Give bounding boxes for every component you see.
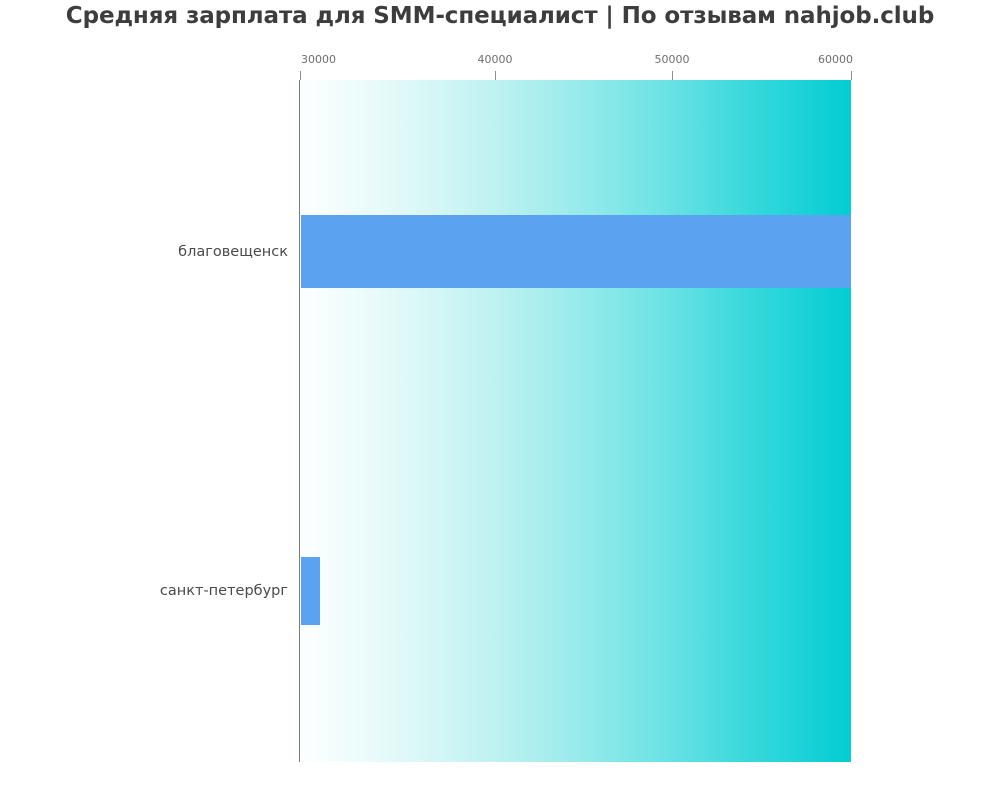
plot-gradient-background (300, 80, 851, 762)
bar (301, 215, 851, 288)
plot-area: 30000400005000060000 (300, 80, 851, 762)
x-axis-tick-label: 40000 (478, 53, 513, 66)
x-axis-tick-mark (300, 71, 301, 80)
x-axis-tick-mark (672, 71, 673, 80)
x-axis-tick-mark (495, 71, 496, 80)
bar (301, 557, 320, 625)
y-axis-line (299, 80, 300, 762)
chart-title: Средняя зарплата для SMM-специалист | По… (0, 0, 1000, 32)
x-axis-tick-mark (851, 71, 852, 80)
x-axis-tick-label: 30000 (301, 53, 336, 66)
y-axis-category-label: благовещенск (178, 244, 288, 260)
y-axis-category-label: санкт-петербург (160, 583, 288, 599)
x-axis-tick-label: 50000 (655, 53, 690, 66)
x-axis-tick-label: 60000 (818, 53, 853, 66)
